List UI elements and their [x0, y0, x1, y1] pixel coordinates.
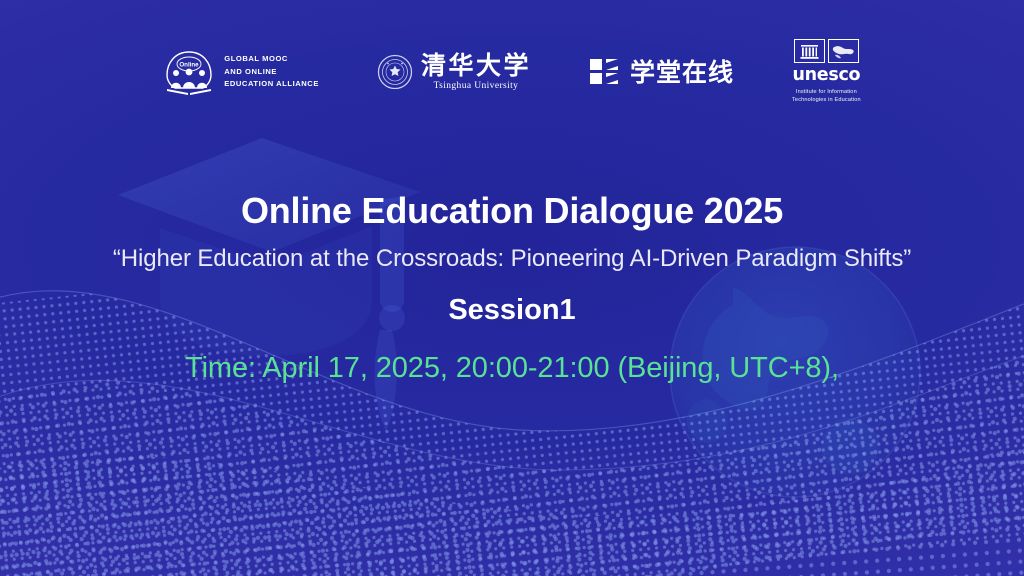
- slide-stage: Online GLOBAL MOOC AND ONLINE EDUCATION …: [0, 0, 1024, 576]
- event-title: Online Education Dialogue 2025: [0, 190, 1024, 232]
- slide-content: Online Education Dialogue 2025 “Higher E…: [0, 0, 1024, 576]
- session-time: Time: April 17, 2025, 20:00-21:00 (Beiji…: [0, 352, 1024, 385]
- event-theme-subtitle: “Higher Education at the Crossroads: Pio…: [0, 245, 1024, 273]
- session-label: Session1: [0, 294, 1024, 327]
